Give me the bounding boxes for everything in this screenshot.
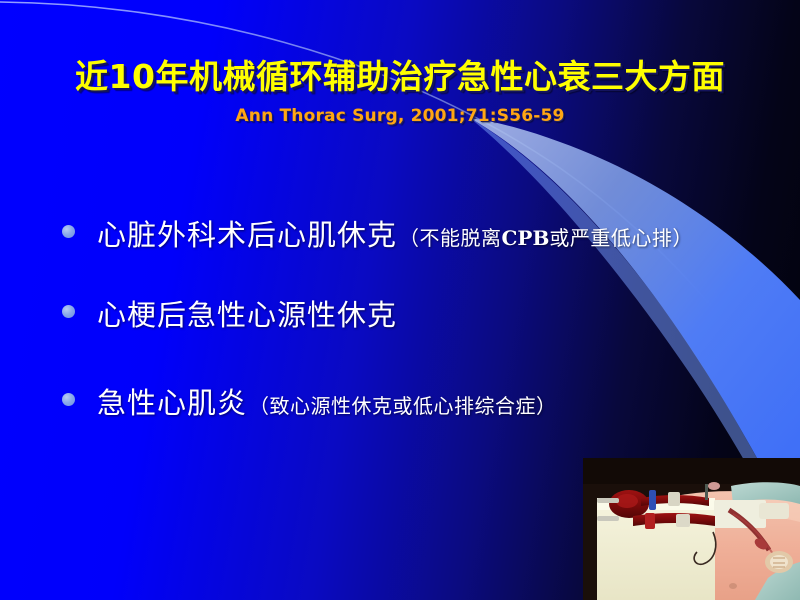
vad-cannulae-patient-photo [583,458,800,600]
disc-bullet-icon [62,225,75,238]
title-block: 近10年机械循环辅助治疗急性心衰三大方面 Ann Thorac Surg, 20… [0,58,800,126]
disc-bullet-icon [62,305,75,318]
presentation-slide: 近10年机械循环辅助治疗急性心衰三大方面 Ann Thorac Surg, 20… [0,0,800,600]
list-item: 心脏外科术后心肌休克 （不能脱离CPB或严重低心排） [62,212,693,254]
bullet-main-text: 急性心肌炎 [97,380,247,422]
bullet-note-text: （不能脱离CPB或严重低心排） [399,222,693,251]
list-item: 心梗后急性心源性休克 [62,292,399,334]
bullet-note-open: （不能脱离 [399,226,502,250]
bullet-note-close: 或严重低心排） [549,226,693,250]
page-title: 近10年机械循环辅助治疗急性心衰三大方面 [0,58,800,96]
list-item: 急性心肌炎 （致心源性休克或低心排综合症） [62,380,557,422]
bullet-note-emphasis: CPB [502,226,550,250]
bullet-note-text: （致心源性休克或低心排综合症） [249,390,557,419]
disc-bullet-icon [62,393,75,406]
citation-subtitle: Ann Thorac Surg, 2001;71:S56-59 [0,106,800,126]
bullet-note-open: （致心源性休克或低心排综合症） [249,394,557,418]
bullet-main-text: 心脏外科术后心肌休克 [97,212,397,254]
bullet-main-text: 心梗后急性心源性休克 [97,292,397,334]
